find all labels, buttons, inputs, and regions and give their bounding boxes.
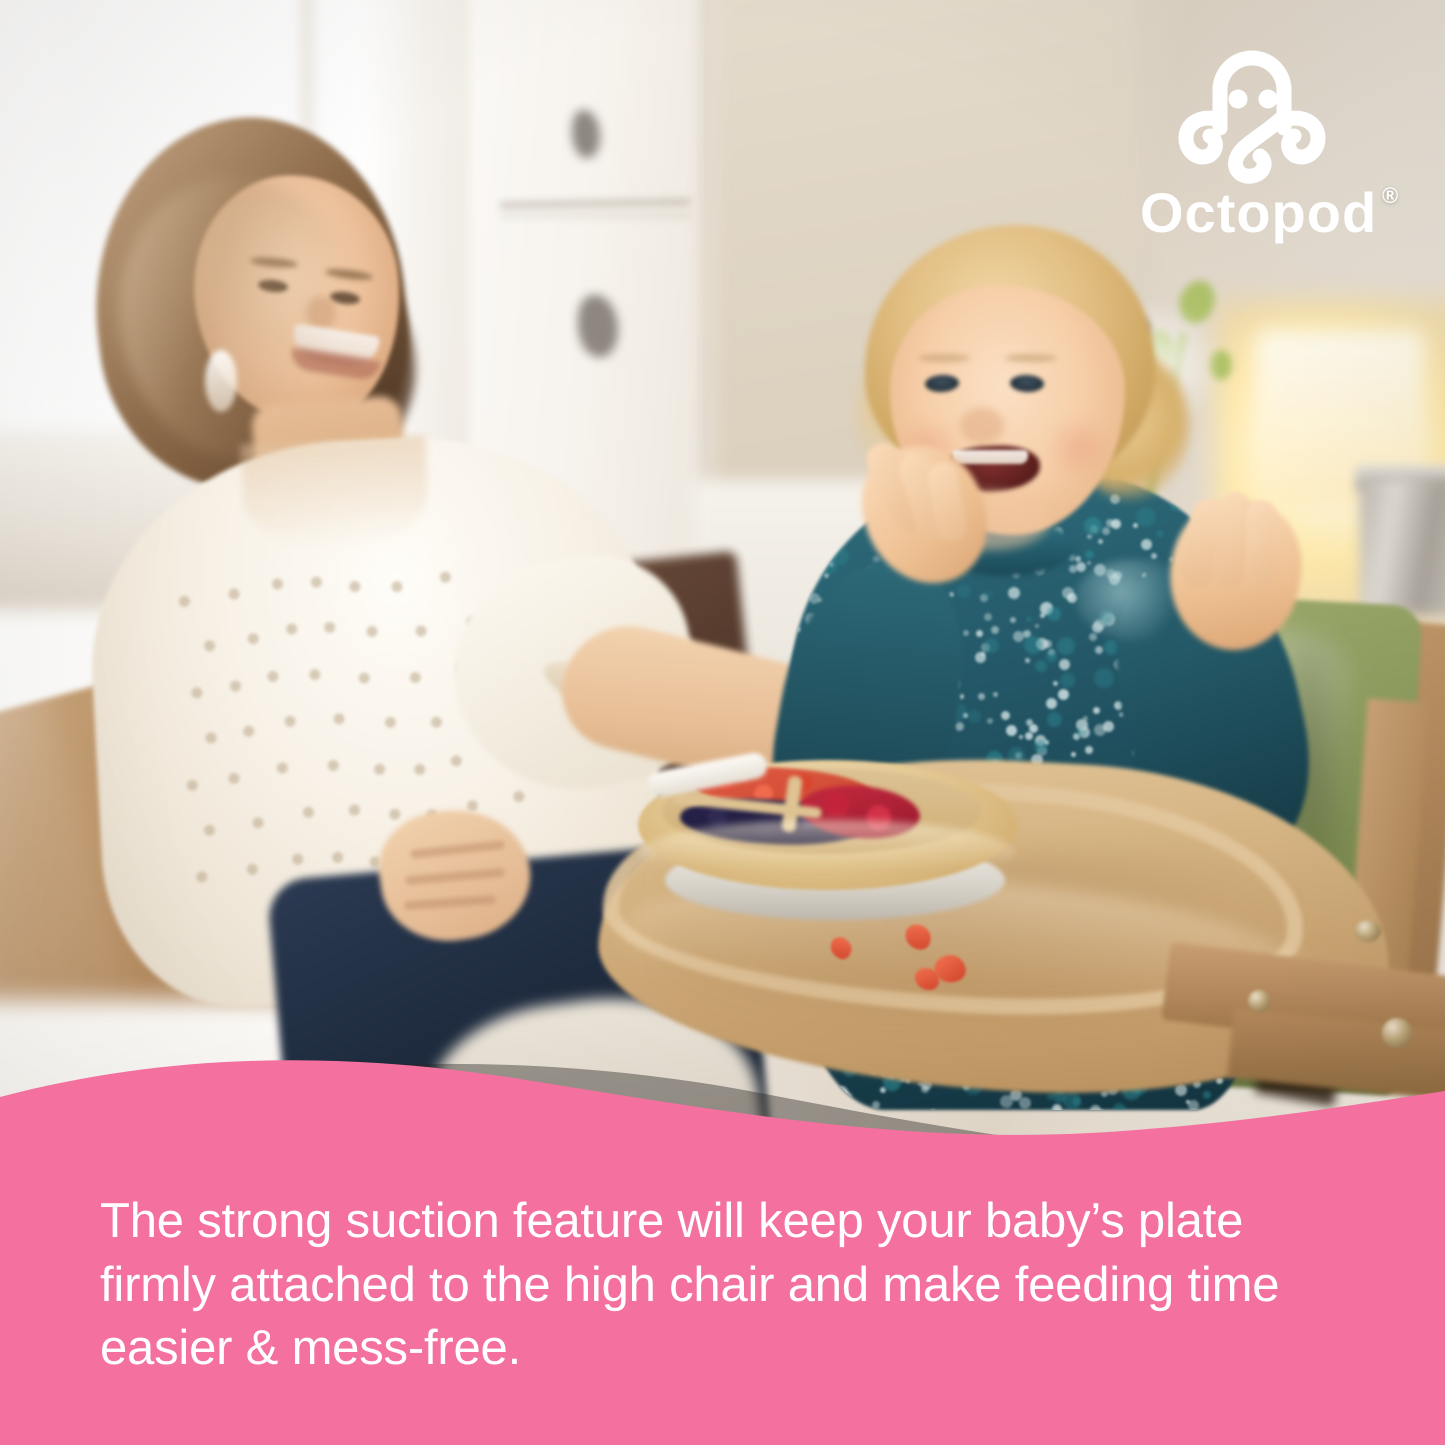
product-lifestyle-banner: The strong suction feature will keep you…: [0, 0, 1445, 1445]
baby-nose: [960, 408, 1004, 444]
kitchen-canister: [1360, 480, 1445, 615]
brand-wordmark: Octopod: [1140, 182, 1410, 246]
mother-earring: [205, 350, 237, 412]
svg-text:Octopod: Octopod: [1140, 182, 1377, 244]
plate-rim-highlight: [640, 820, 1015, 886]
chair-bolt: [1355, 920, 1381, 942]
baby-finger: [1246, 500, 1276, 588]
caption-block: The strong suction feature will keep you…: [100, 1190, 1380, 1381]
brand-logo: Octopod ®: [1160, 42, 1410, 247]
octopus-icon: [1178, 42, 1326, 184]
caption-line-3: easier & mess-free.: [100, 1317, 1380, 1381]
cabinet-seam: [500, 212, 690, 219]
chair-bolt: [1248, 990, 1270, 1012]
caption-line-1: The strong suction feature will keep you…: [100, 1190, 1380, 1254]
baby-eyebrow: [1005, 354, 1057, 362]
food-crumb: [915, 968, 939, 990]
caption-line-2: firmly attached to the high chair and ma…: [100, 1254, 1380, 1318]
baby-teeth: [952, 450, 1028, 464]
registered-trademark-symbol: ®: [1382, 183, 1398, 209]
baby-eyebrow: [918, 354, 970, 362]
baby-cheek: [1042, 418, 1116, 478]
